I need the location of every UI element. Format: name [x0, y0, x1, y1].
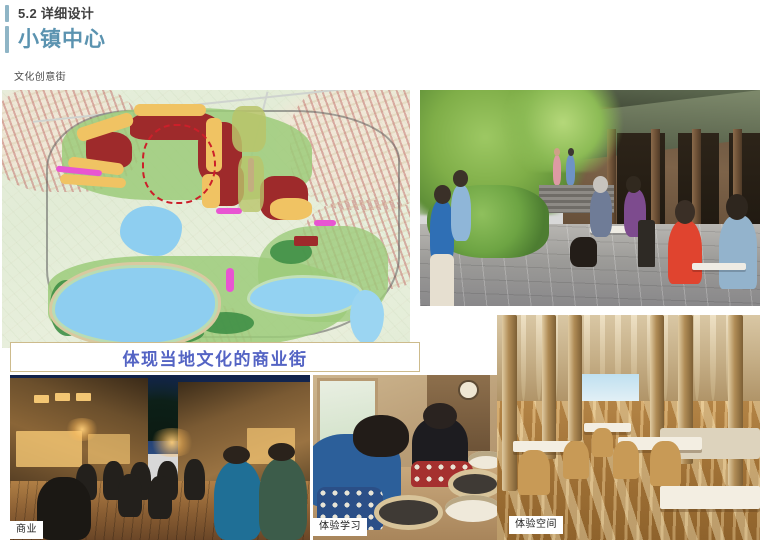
- sub-caption: 文化创意街: [14, 68, 66, 83]
- street-person-seated-1: [590, 189, 612, 237]
- pottery-water-basin: [445, 495, 497, 521]
- street-scene: [420, 90, 760, 306]
- caption-tag-learning: 体验学习: [313, 518, 367, 536]
- street-tree-canopy-2: [495, 90, 631, 172]
- caption-tag-commerce: 商业: [10, 521, 43, 539]
- dining-chair-1: [518, 450, 550, 495]
- pottery-person-woman-head: [423, 403, 456, 429]
- masterplan-diagram: [2, 90, 410, 348]
- pottery-clock: [458, 380, 479, 401]
- dining-chair-5: [592, 428, 613, 457]
- map-field-e: [238, 156, 264, 212]
- pottery-wheel-woman: [453, 474, 497, 494]
- night-window-1: [34, 395, 49, 403]
- accent-bar-small: [5, 5, 9, 22]
- street-person-right-blue-head: [726, 194, 748, 220]
- masterplan-scene: [2, 90, 410, 348]
- street-person-seated-2-head: [626, 176, 641, 192]
- night-crowd-6: [118, 474, 142, 517]
- banner-text: 体现当地文化的商业街: [123, 345, 308, 370]
- map-main-lake: [55, 268, 215, 343]
- street-dog: [570, 237, 597, 267]
- caption-tag-space: 体验空间: [509, 516, 563, 534]
- map-plaza-n: [134, 104, 206, 116]
- map-plaza-east-blob: [270, 198, 312, 220]
- pottery-workshop-photo: [313, 375, 497, 540]
- night-scene: [10, 375, 310, 540]
- night-shop-glow-2: [88, 434, 130, 464]
- night-foreground-right-2-head: [268, 443, 295, 461]
- night-lamp-left: [64, 418, 100, 441]
- map-accent-s: [226, 268, 234, 292]
- street-person-distant-1: [553, 155, 562, 185]
- night-foreground-left: [37, 477, 91, 540]
- banner: 体现当地文化的商业街: [10, 342, 420, 372]
- dining-post-6: [728, 315, 742, 486]
- night-window-3: [76, 393, 91, 401]
- commercial-street-photo: [420, 90, 760, 306]
- map-east-lake: [250, 278, 360, 314]
- street-person-seated-1-head: [593, 176, 608, 192]
- dining-scene: [497, 315, 760, 540]
- street-person-right-blue: [719, 215, 756, 288]
- street-person-left-1-head: [434, 185, 451, 204]
- map-feature-loop: [142, 124, 216, 204]
- night-crowd-7: [148, 476, 172, 519]
- street-cafe-table-2: [692, 263, 746, 271]
- street-person-right-red: [668, 220, 702, 285]
- dining-chair-2: [563, 441, 589, 479]
- dining-post-1: [502, 315, 516, 491]
- map-field-ne: [232, 106, 266, 152]
- pottery-person-man-head: [353, 415, 408, 458]
- dining-space-photo: [497, 315, 760, 540]
- night-street-photo: [10, 375, 310, 540]
- dining-post-4: [650, 315, 664, 446]
- dining-drape-14: [710, 315, 716, 401]
- map-accent-mid: [216, 208, 242, 214]
- dining-table-near: [660, 486, 760, 509]
- street-person-distant-2: [566, 155, 575, 185]
- night-window-2: [55, 393, 70, 401]
- map-inner-pond: [120, 206, 182, 256]
- page-title: 小镇中心: [18, 26, 106, 53]
- night-foreground-right-1: [214, 461, 262, 540]
- section-number: 5.2 详细设计: [18, 5, 94, 22]
- street-person-left-1-skirt: [430, 254, 454, 306]
- dining-post-2: [542, 315, 556, 459]
- section-title-row: 小镇中心: [5, 24, 106, 54]
- section-number-row: 5.2 详细设计: [5, 3, 94, 23]
- page-header: 5.2 详细设计 小镇中心 文化创意街: [0, 0, 760, 62]
- map-building-se: [294, 236, 318, 246]
- pottery-wheel-man: [379, 500, 438, 525]
- dining-post-3: [568, 315, 582, 441]
- night-foreground-right-2: [259, 458, 307, 540]
- street-chair-1: [638, 220, 655, 268]
- accent-bar-large: [5, 26, 9, 53]
- map-accent-far-e: [314, 220, 336, 226]
- night-crowd-5: [184, 459, 205, 500]
- dining-chair-4: [650, 441, 682, 486]
- night-foreground-right-1-head: [223, 446, 250, 464]
- pottery-scene: [313, 375, 497, 540]
- street-person-left-2: [451, 185, 471, 241]
- street-person-distant-2-head: [568, 148, 574, 156]
- dining-chair-3: [613, 441, 639, 479]
- slide-page: 5.2 详细设计 小镇中心 文化创意街: [0, 0, 760, 540]
